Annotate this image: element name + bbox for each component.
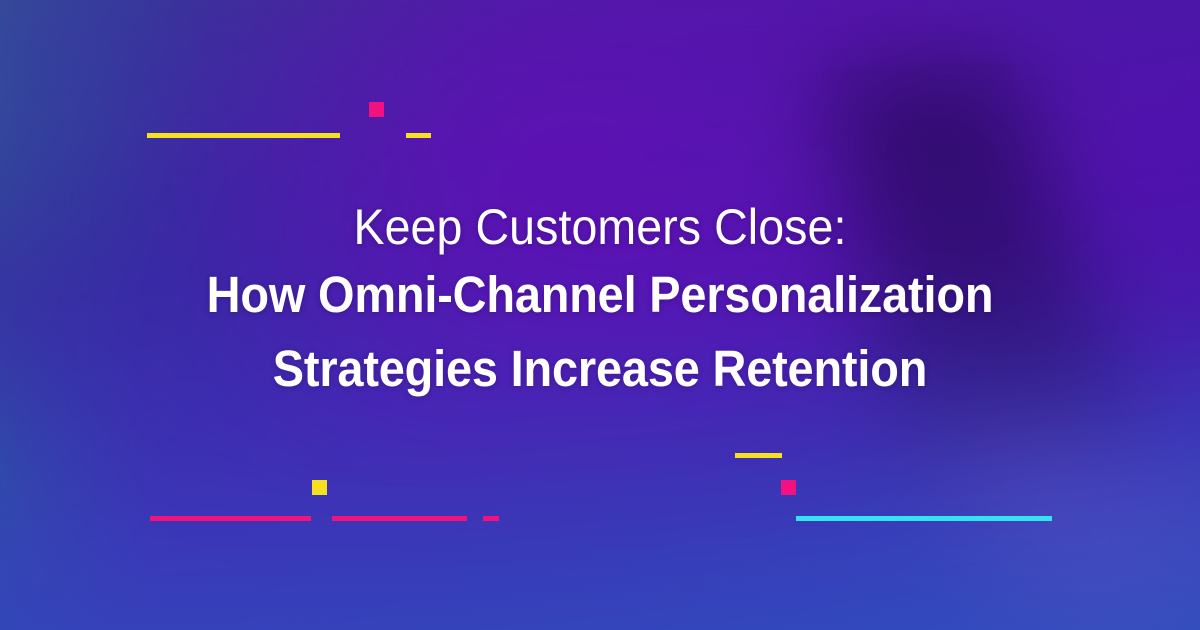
headline-block: Keep Customers Close: How Omni-Channel P… [0, 196, 1200, 406]
headline-line-3: Strategies Increase Retention [48, 332, 1152, 406]
accent-bar-yellow-mid-right [735, 453, 782, 458]
accent-bar-magenta-bottom-3 [483, 516, 499, 521]
accent-bar-cyan-bottom-right [796, 516, 1052, 521]
accent-bar-yellow-top-left [147, 133, 340, 138]
banner-canvas: Keep Customers Close: How Omni-Channel P… [0, 0, 1200, 630]
accent-bar-magenta-bottom-2 [332, 516, 467, 521]
accent-square-yellow-bottom [312, 480, 327, 495]
headline-line-2: How Omni-Channel Personalization [48, 258, 1152, 332]
accent-square-magenta-bottom [781, 480, 796, 495]
accent-bar-yellow-top-right [406, 133, 431, 138]
accent-bar-magenta-bottom-1 [150, 516, 311, 521]
headline-line-1: Keep Customers Close: [42, 196, 1158, 258]
accent-square-magenta-top [369, 102, 384, 117]
